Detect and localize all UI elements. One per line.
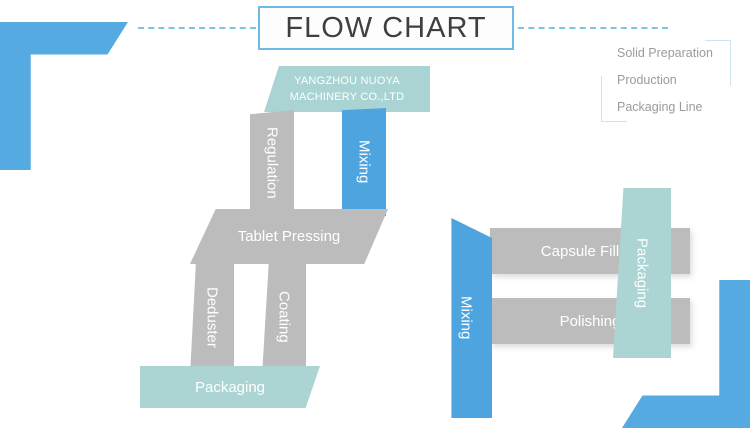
company-name-line-2: MACHINERY CO.,LTD [290, 89, 405, 105]
flow-step-coating[interactable]: Coating [262, 258, 306, 376]
flow-step-label: Regulation [264, 127, 281, 199]
company-banner: YANGZHOU NUOYA MACHINERY CO.,LTD [264, 66, 430, 112]
flow-step-label: Packaging [634, 238, 651, 308]
flow-step-label: Packaging [195, 379, 265, 396]
corner-bracket-top-left-icon [0, 22, 128, 170]
dashed-rule-right [518, 27, 668, 29]
caption-line: Production [601, 67, 731, 94]
caption-block: Solid Preparation Production Packaging L… [601, 40, 731, 122]
caption-line: Packaging Line [601, 94, 731, 121]
company-name-line-1: YANGZHOU NUOYA [294, 73, 400, 89]
flow-step-label: Coating [276, 291, 293, 343]
flow-step-regulation[interactable]: Regulation [250, 110, 294, 216]
page-title: FLOW CHART [285, 12, 486, 45]
flow-step-label: Polishing [560, 313, 621, 330]
caption-line: Solid Preparation [601, 40, 731, 67]
caption-edge-bottom [601, 121, 627, 122]
caption-edge-top [705, 40, 731, 41]
flow-step-mixing-capsule[interactable]: Mixing [440, 218, 492, 418]
flow-chart-canvas: FLOW CHART Solid Preparation Production … [0, 0, 750, 446]
flow-step-mixing-tablet[interactable]: Mixing [342, 108, 386, 216]
flow-step-tablet-pressing[interactable]: Tablet Pressing [190, 209, 388, 264]
flow-step-deduster[interactable]: Deduster [190, 258, 234, 376]
flow-step-label: Mixing [356, 140, 373, 183]
flow-step-packaging-tablet[interactable]: Packaging [140, 366, 320, 408]
flow-step-packaging-capsule[interactable]: Packaging [613, 188, 671, 358]
page-title-box: FLOW CHART [258, 6, 514, 50]
flow-step-label: Mixing [458, 296, 475, 339]
caption-edge-right [730, 40, 731, 86]
dashed-rule-left [138, 27, 256, 29]
flow-step-label: Deduster [204, 287, 221, 348]
caption-edge-left [601, 76, 602, 122]
flow-step-label: Tablet Pressing [238, 228, 341, 245]
